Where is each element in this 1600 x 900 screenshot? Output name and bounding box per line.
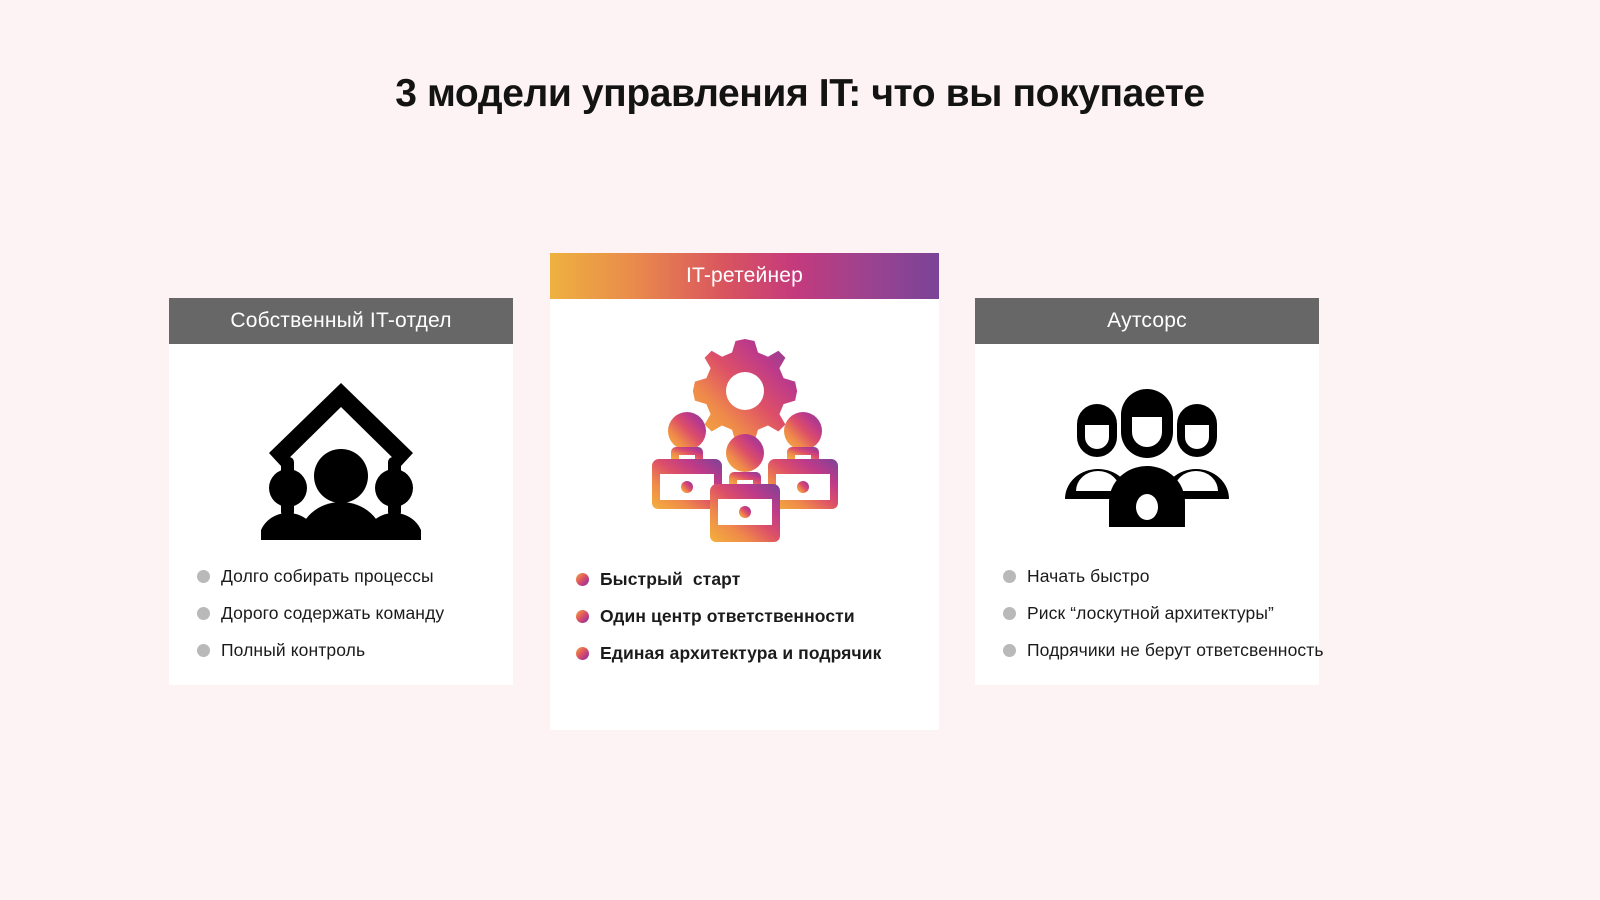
- bullet-dot-icon: [576, 647, 589, 660]
- list-item-label: Подрячики не берут ответсвенность: [1027, 640, 1324, 661]
- list-item: Риск “лоскутной архитектуры”: [1003, 595, 1309, 632]
- card-inhouse-body: Долго собирать процессы Дорого содержать…: [169, 344, 513, 685]
- card-outsource-body: Начать быстро Риск “лоскутной архитектур…: [975, 344, 1319, 685]
- bullet-dot-icon: [197, 570, 210, 583]
- bullet-dot-icon: [197, 644, 210, 657]
- card-outsource: Аутсорс: [975, 298, 1319, 685]
- card-outsource-header: Аутсорс: [975, 298, 1319, 344]
- card-inhouse: Собственный IT-отдел: [169, 298, 513, 685]
- card-retainer-body: Быстрый старт Один центр ответственности…: [550, 299, 939, 730]
- bullet-dot-icon: [576, 610, 589, 623]
- card-inhouse-header: Собственный IT-отдел: [169, 298, 513, 344]
- page-title: 3 модели управления IT: что вы покупаете: [0, 72, 1600, 116]
- list-item: Долго собирать процессы: [197, 558, 503, 595]
- list-item: Подрячики не берут ответсвенность: [1003, 632, 1309, 669]
- list-item-label: Один центр ответственности: [600, 606, 855, 627]
- bullet-dot-icon: [197, 607, 210, 620]
- list-item-label: Долго собирать процессы: [221, 566, 434, 587]
- bullet-list-retainer: Быстрый старт Один центр ответственности…: [550, 557, 939, 672]
- group-of-people-icon: [975, 344, 1319, 556]
- list-item: Один центр ответственности: [576, 598, 929, 635]
- list-item: Полный контроль: [197, 632, 503, 669]
- list-item: Дорого содержать команду: [197, 595, 503, 632]
- card-retainer-header: IT-ретейнер: [550, 253, 939, 299]
- list-item-label: Полный контроль: [221, 640, 365, 661]
- bullet-list-inhouse: Долго собирать процессы Дорого содержать…: [169, 556, 513, 669]
- bullet-dot-icon: [1003, 607, 1016, 620]
- card-retainer: IT-ретейнер: [550, 253, 939, 730]
- bullet-dot-icon: [1003, 570, 1016, 583]
- list-item: Быстрый старт: [576, 561, 929, 598]
- bullet-list-outsource: Начать быстро Риск “лоскутной архитектур…: [975, 556, 1319, 669]
- gear-with-specialists-icon: [550, 299, 939, 557]
- list-item: Единая архитектура и подрячик: [576, 635, 929, 672]
- list-item-label: Дорого содержать команду: [221, 603, 444, 624]
- list-item-label: Быстрый старт: [600, 569, 740, 590]
- list-item: Начать быстро: [1003, 558, 1309, 595]
- house-with-team-icon: [169, 344, 513, 556]
- list-item-label: Единая архитектура и подрячик: [600, 643, 881, 664]
- list-item-label: Риск “лоскутной архитектуры”: [1027, 603, 1274, 624]
- list-item-label: Начать быстро: [1027, 566, 1150, 587]
- bullet-dot-icon: [576, 573, 589, 586]
- bullet-dot-icon: [1003, 644, 1016, 657]
